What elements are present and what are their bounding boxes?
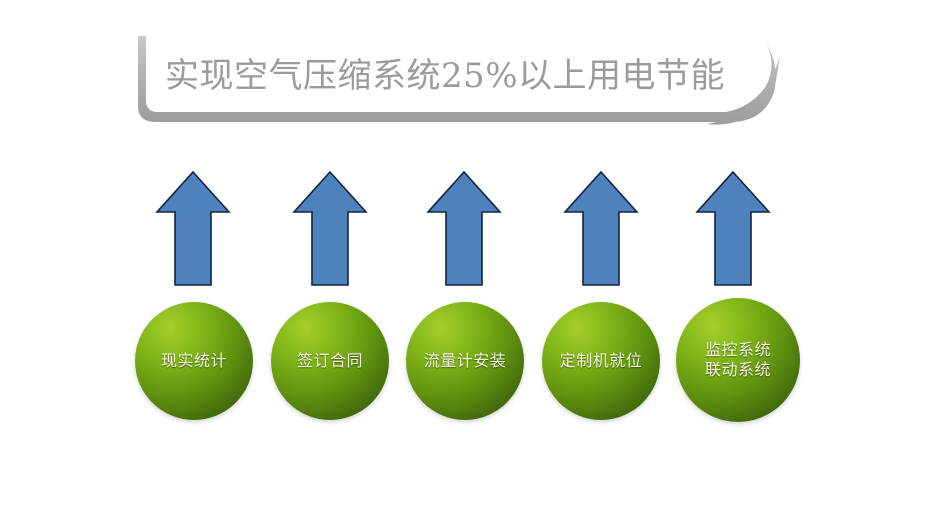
up-arrow-icon-3 <box>426 170 502 288</box>
process-node-label-5: 监控系统 联动系统 <box>699 340 777 381</box>
process-node-3[interactable]: 流量计安装 <box>406 302 524 420</box>
process-node-label-2: 签订合同 <box>291 351 369 371</box>
up-arrow-icon-2 <box>292 170 368 288</box>
up-arrow-icon-1 <box>155 170 231 288</box>
process-node-4[interactable]: 定制机就位 <box>542 302 660 420</box>
process-node-label-4: 定制机就位 <box>554 351 649 371</box>
up-arrow-icon-5 <box>695 170 771 288</box>
slide-canvas: 实现空气压缩系统25%以上用电节能 <box>0 0 945 529</box>
up-arrow-icon-4 <box>563 170 639 288</box>
process-node-label-3: 流量计安装 <box>418 351 513 371</box>
process-node-2[interactable]: 签订合同 <box>271 302 389 420</box>
process-node-label-1: 现实统计 <box>155 351 233 371</box>
flow-diagram: 现实统计 签订合同 流量计安装 定制机就位 监控系统 联动系统 <box>0 0 945 529</box>
process-node-5[interactable]: 监控系统 联动系统 <box>676 298 800 422</box>
process-node-1[interactable]: 现实统计 <box>135 302 253 420</box>
